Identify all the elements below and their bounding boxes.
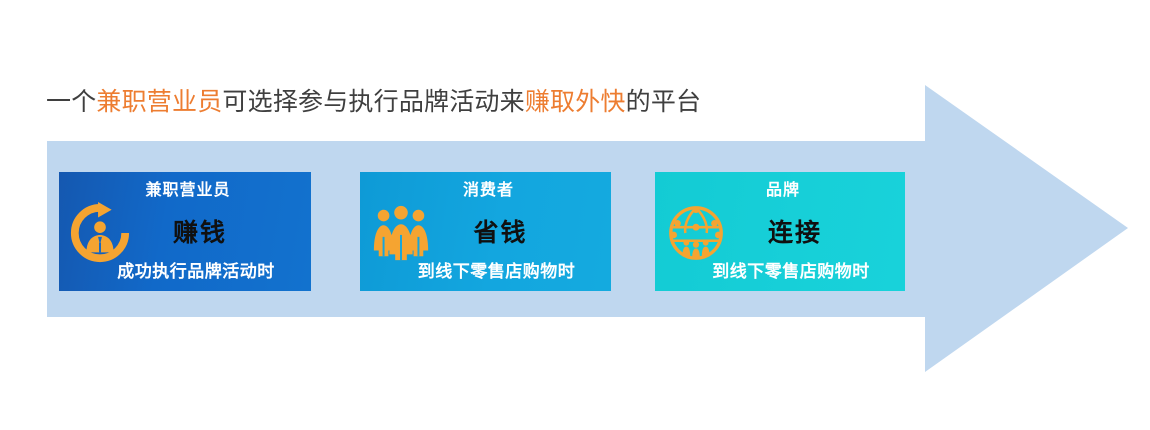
- headline-segment-4-highlight: 赚取外快: [525, 89, 626, 116]
- card-main-label: 连接: [655, 218, 905, 250]
- headline-segment-3: 可选择参与执行品牌活动来: [222, 89, 524, 116]
- headline-segment-2-highlight: 兼职营业员: [96, 89, 222, 116]
- card-main-label: 赚钱: [59, 218, 311, 250]
- card-caption: 到线下零售店购物时: [360, 261, 611, 283]
- page-title: 一个兼职营业员可选择参与执行品牌活动来赚取外快的平台: [46, 86, 701, 120]
- card-main-label: 省钱: [360, 218, 611, 250]
- card-title: 兼职营业员: [59, 180, 311, 202]
- card-part-time-clerk[interactable]: 兼职营业员 赚钱 成功执行品牌活动时: [59, 172, 311, 291]
- headline-segment-5: 的平台: [626, 89, 702, 116]
- headline-segment-1: 一个: [46, 89, 96, 116]
- card-brand[interactable]: 品牌 连接: [655, 172, 905, 291]
- card-consumer[interactable]: 消费者 省钱 到线下零售店购物时: [360, 172, 611, 291]
- card-title: 消费者: [360, 180, 611, 202]
- card-caption: 成功执行品牌活动时: [59, 261, 311, 283]
- card-caption: 到线下零售店购物时: [655, 261, 905, 283]
- card-title: 品牌: [655, 180, 905, 202]
- slide-canvas: 一个兼职营业员可选择参与执行品牌活动来赚取外快的平台 兼职营业员 赚钱 成功执行…: [0, 0, 1150, 430]
